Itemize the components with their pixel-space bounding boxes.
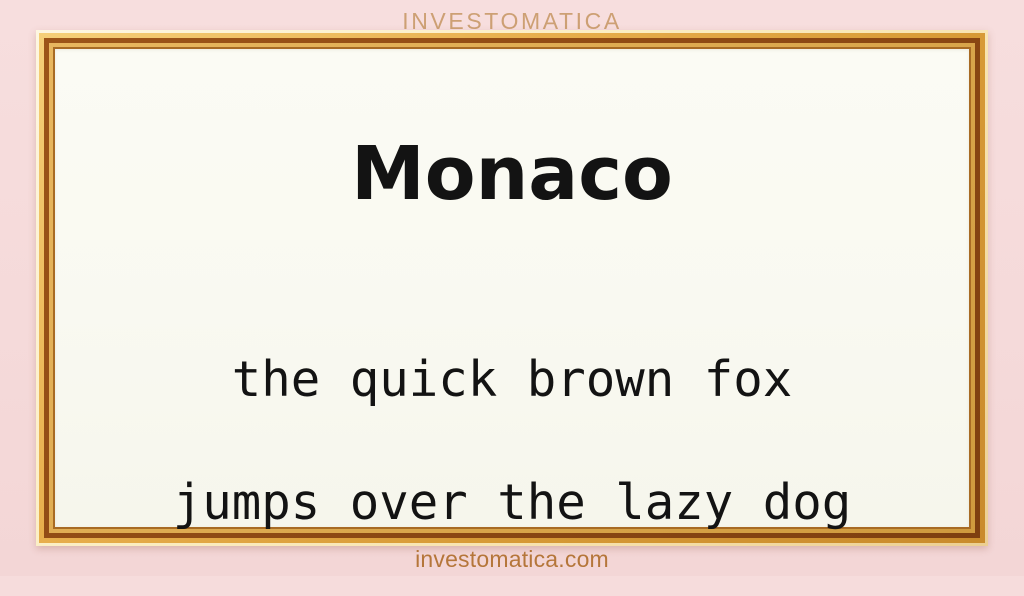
pangram-line-2: jumps over the lazy dog <box>173 472 852 534</box>
picture-frame: Monaco the quick brown fox jumps over th… <box>36 30 988 546</box>
specimen-canvas: Monaco the quick brown fox jumps over th… <box>55 49 969 527</box>
site-url-watermark: investomatica.com <box>0 546 1024 573</box>
font-name-title: Monaco <box>351 137 673 211</box>
pangram-line-1: the quick brown fox <box>173 349 852 411</box>
